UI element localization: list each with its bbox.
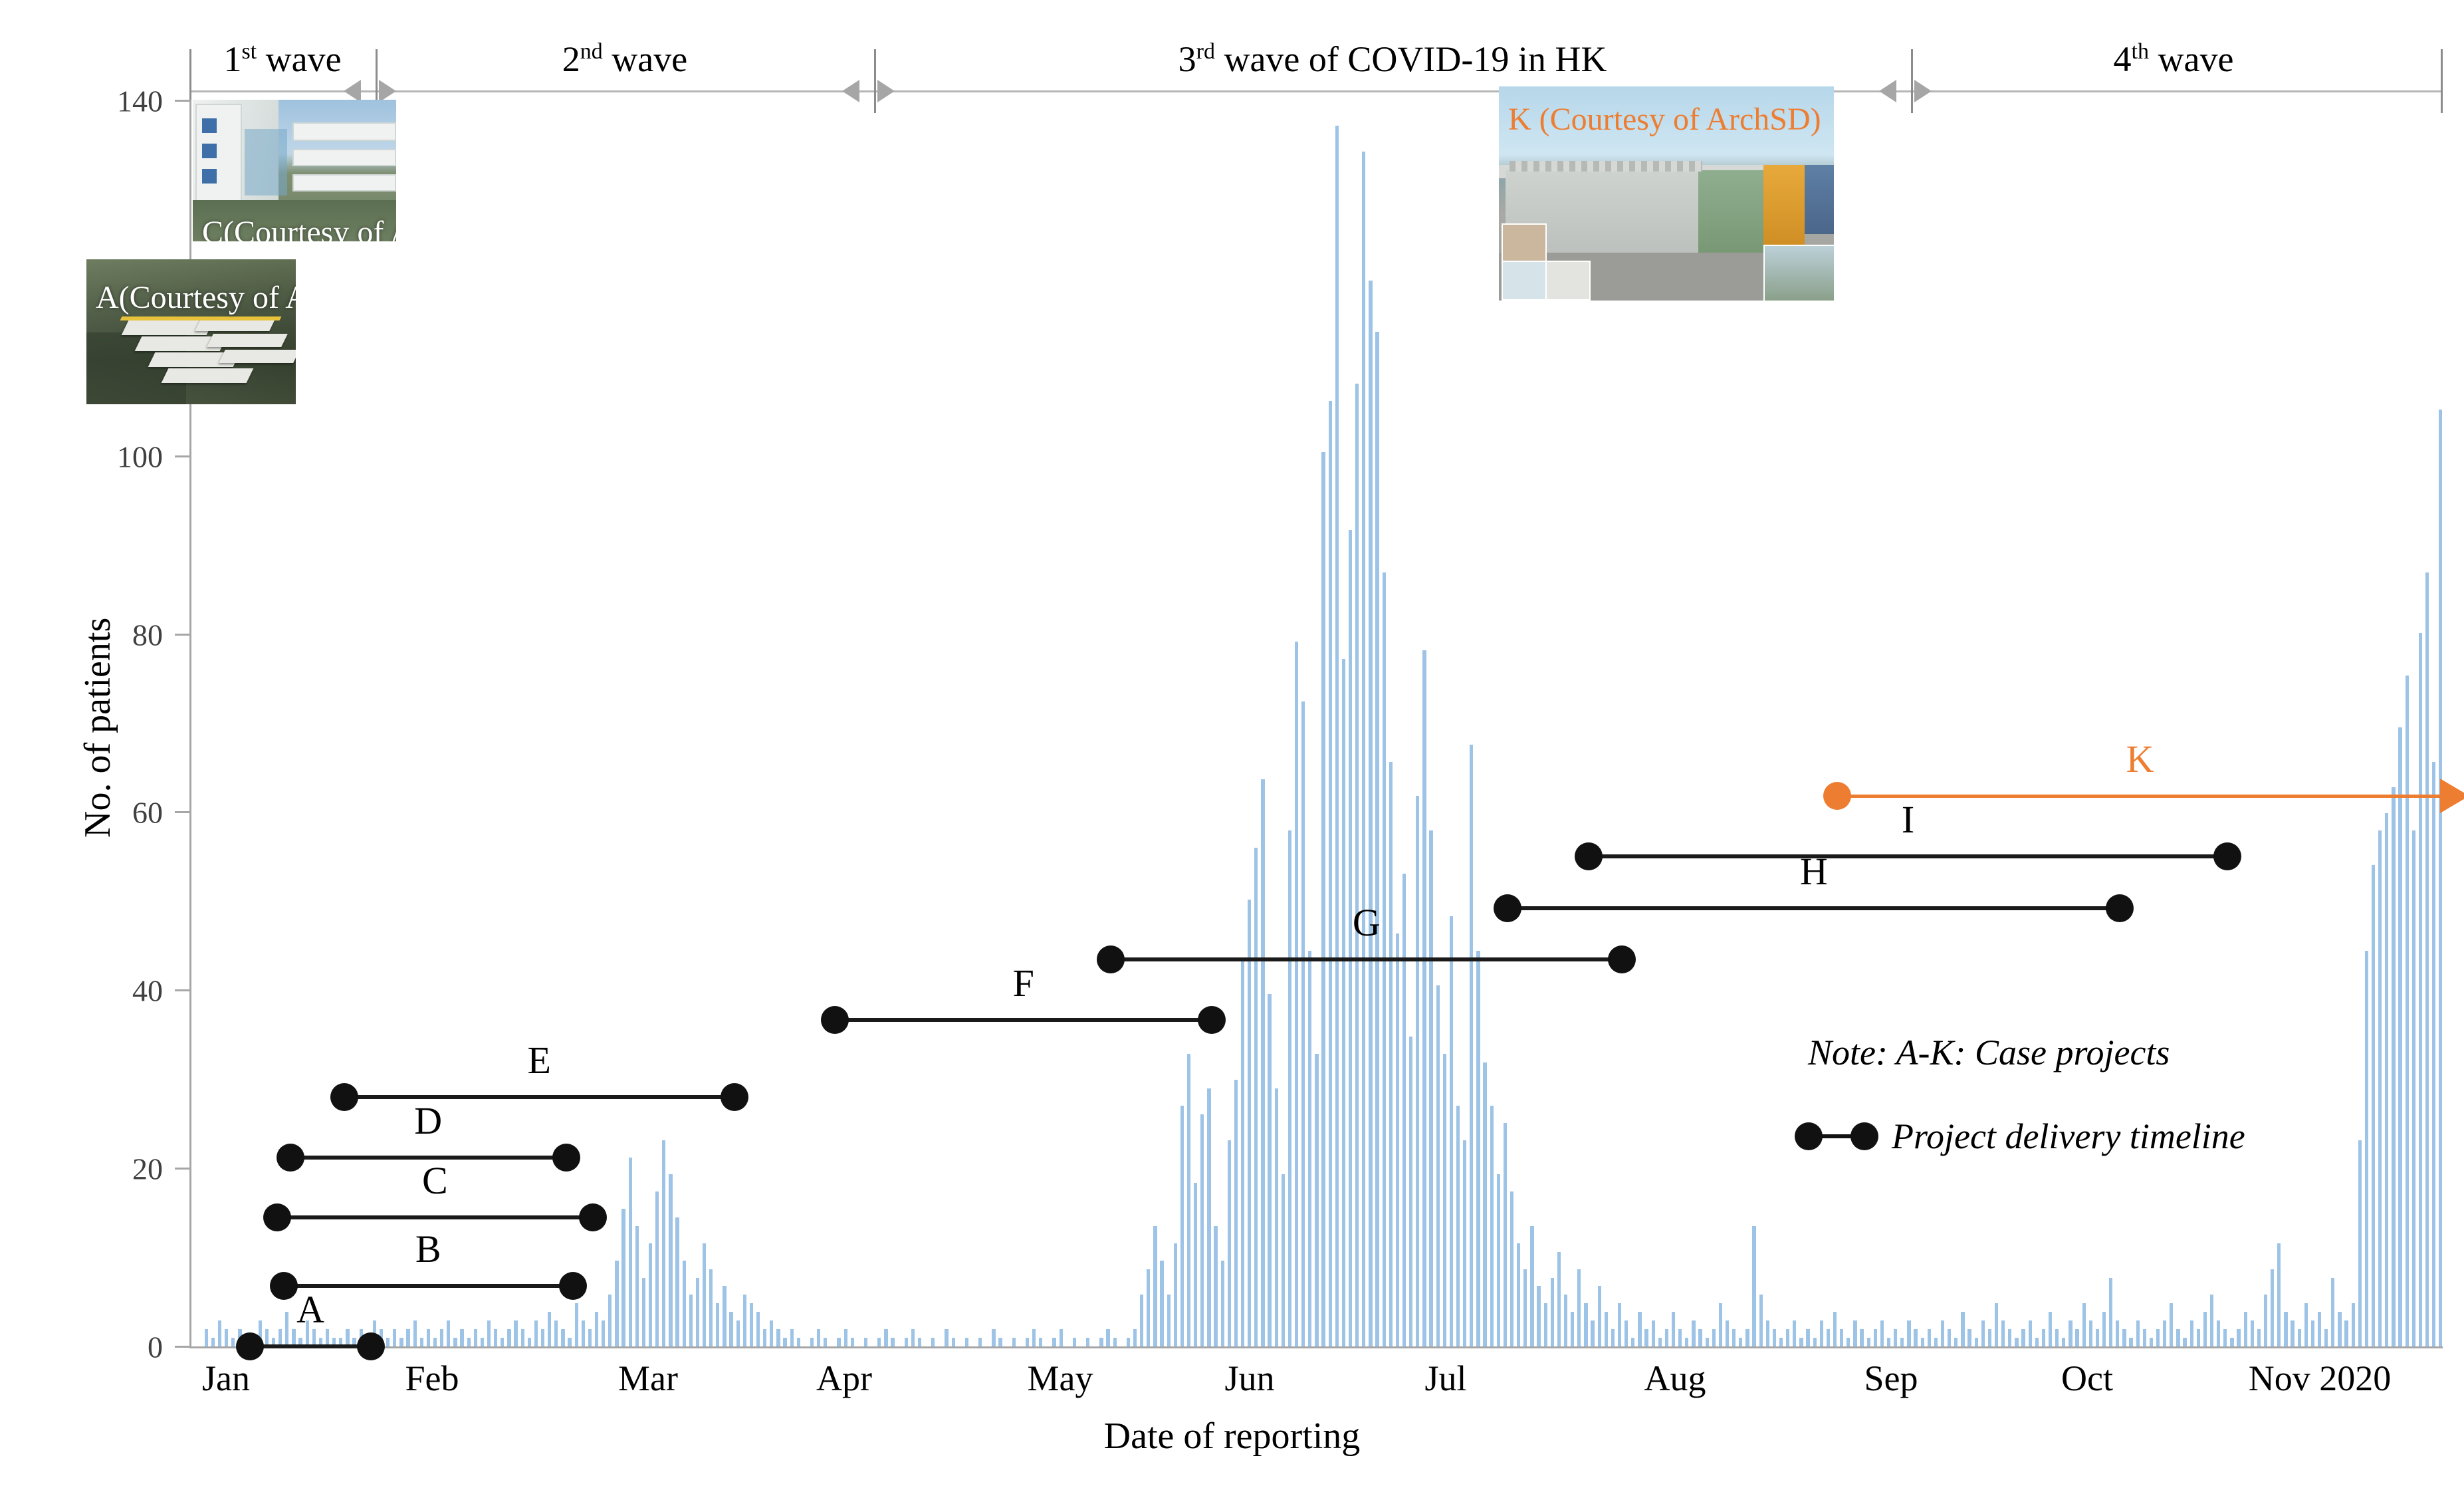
bar-slot	[2431, 100, 2437, 1346]
bar-slot	[2424, 100, 2431, 1346]
bar	[218, 1320, 221, 1346]
bar-slot	[1071, 100, 1077, 1346]
bar-slot	[674, 100, 681, 1346]
bar	[427, 1329, 430, 1346]
bar	[1658, 1338, 1662, 1346]
bar	[783, 1338, 786, 1346]
bar	[2271, 1269, 2274, 1346]
bar	[1200, 1114, 1204, 1346]
bar	[1099, 1338, 1103, 1346]
bar-slot	[883, 100, 889, 1346]
bar-slot	[385, 100, 392, 1346]
bar	[1335, 126, 1339, 1346]
bar	[1840, 1329, 1843, 1346]
bar	[413, 1320, 417, 1346]
timeline-line	[1508, 906, 2120, 910]
bar	[635, 1226, 639, 1346]
photo-K: K (Courtesy of ArchSD)	[1499, 86, 1834, 301]
bar-slot	[1408, 100, 1414, 1346]
bar-slot	[1085, 100, 1091, 1346]
bar-slot	[465, 100, 472, 1346]
bar	[1228, 1140, 1231, 1346]
timeline-label-D: D	[414, 1098, 442, 1143]
bar-slot	[1293, 100, 1300, 1346]
bar-slot	[2370, 100, 2377, 1346]
bar	[2358, 1140, 2362, 1346]
bar	[2338, 1312, 2341, 1346]
bar	[931, 1338, 935, 1346]
bar	[528, 1338, 531, 1346]
timeline-label-K: K	[2126, 737, 2154, 781]
bar	[2244, 1312, 2247, 1346]
bar-slot	[855, 100, 862, 1346]
bar	[669, 1174, 672, 1346]
bar	[1584, 1303, 1587, 1346]
bar	[1295, 642, 1298, 1346]
x-tick-label-jan: Jan	[202, 1358, 250, 1399]
bar	[1422, 650, 1426, 1346]
bar-slot	[331, 100, 338, 1346]
bar	[1988, 1329, 1991, 1346]
bar-slot	[917, 100, 923, 1346]
timeline-start-dot	[1575, 842, 1603, 870]
x-tick-label-nov: Nov 2020	[2249, 1358, 2392, 1399]
bar-slot	[849, 100, 855, 1346]
bar	[1638, 1312, 1641, 1346]
bar-slot	[1932, 100, 1939, 1346]
bar	[621, 1209, 625, 1346]
bar	[608, 1295, 612, 1346]
bar-slot	[2128, 100, 2134, 1346]
bar-slot	[1872, 100, 1878, 1346]
bar	[911, 1329, 915, 1346]
bar-slot	[715, 100, 721, 1346]
bar-slot	[943, 100, 950, 1346]
bar	[1706, 1338, 1709, 1346]
bar	[1698, 1329, 1702, 1346]
bar-slot	[2377, 100, 2384, 1346]
bar	[1523, 1269, 1527, 1346]
bar-slot	[1172, 100, 1178, 1346]
bar	[1268, 994, 1271, 1346]
bar-slot	[2000, 100, 2007, 1346]
bar	[1282, 1174, 1285, 1346]
bar-slot	[667, 100, 674, 1346]
bar-slot	[640, 100, 647, 1346]
bar-slot	[1953, 100, 1960, 1346]
bar-slot	[1986, 100, 1993, 1346]
bar	[905, 1338, 908, 1346]
bar	[1732, 1329, 1736, 1346]
bar	[1180, 1106, 1184, 1346]
bar	[1793, 1320, 1796, 1346]
bar	[1362, 152, 1365, 1346]
bar-slot	[1038, 100, 1044, 1346]
bar	[1692, 1320, 1695, 1346]
timeline-start-dot	[270, 1272, 298, 1300]
bar	[285, 1312, 288, 1346]
bar	[2352, 1303, 2355, 1346]
bar-slot	[2323, 100, 2330, 1346]
bar-slot	[1111, 100, 1118, 1346]
bar	[2143, 1329, 2146, 1346]
bar-slot	[1361, 100, 1367, 1346]
timeline-end-dot	[357, 1332, 385, 1360]
bar	[1032, 1329, 1036, 1346]
y-tick-40	[175, 989, 189, 991]
bar	[561, 1329, 564, 1346]
bar-slot	[2168, 100, 2175, 1346]
wave-arrow-right-2	[877, 80, 895, 102]
bar	[689, 1295, 693, 1346]
bar	[2419, 633, 2422, 1346]
bar-slot	[1973, 100, 1979, 1346]
legend-series: Project delivery timeline	[1795, 1116, 2245, 1157]
bar-slot	[2175, 100, 2182, 1346]
bar	[1147, 1269, 1150, 1346]
bar	[743, 1295, 746, 1346]
bar-slot	[479, 100, 485, 1346]
bar	[205, 1329, 208, 1346]
bar	[1510, 1191, 1513, 1346]
bar	[1928, 1329, 1931, 1346]
bar	[649, 1243, 652, 1346]
bar	[1012, 1338, 1016, 1346]
bar-slot	[2222, 100, 2229, 1346]
bar	[501, 1338, 504, 1346]
bar	[2176, 1329, 2180, 1346]
bar	[683, 1261, 686, 1346]
bar-slot	[2309, 100, 2316, 1346]
bar-slot	[1878, 100, 1885, 1346]
bar-slot	[1367, 100, 1374, 1346]
bar	[1975, 1338, 1978, 1346]
bar-slot	[532, 100, 539, 1346]
bar-slot	[1899, 100, 1906, 1346]
bar	[1301, 701, 1305, 1346]
bar	[1133, 1329, 1137, 1346]
x-tick-label-may: May	[1028, 1358, 1093, 1399]
bar-slot	[748, 100, 754, 1346]
bar	[582, 1320, 585, 1346]
bar-slot	[2343, 100, 2350, 1346]
bar-slot	[1300, 100, 1307, 1346]
chart-figure: 1st wave 2nd wave 3rd wave of COVID-19 i…	[0, 0, 2464, 1498]
bar-slot	[338, 100, 344, 1346]
bar	[2223, 1329, 2227, 1346]
bar	[507, 1329, 510, 1346]
bar	[1409, 1037, 1412, 1346]
bar-slot	[392, 100, 398, 1346]
bar-slot	[687, 100, 694, 1346]
bar-slot	[2269, 100, 2276, 1346]
bar	[1672, 1312, 1675, 1346]
bar	[2251, 1320, 2254, 1346]
bar-slot	[768, 100, 775, 1346]
bar-slot	[1892, 100, 1899, 1346]
bar-slot	[1381, 100, 1387, 1346]
timeline-end-dot	[2213, 842, 2241, 870]
bar	[1773, 1329, 1776, 1346]
bar	[1880, 1320, 1884, 1346]
bar	[1140, 1295, 1143, 1346]
wave-label-3: 3rd wave of COVID-19 in HK	[1178, 39, 1607, 80]
bar-slot	[950, 100, 956, 1346]
bar-slot	[1347, 100, 1354, 1346]
bar-slot	[2061, 100, 2067, 1346]
wave-2-ordinal: 2	[562, 39, 580, 79]
bar	[642, 1278, 645, 1346]
bar-slot	[647, 100, 654, 1346]
bar	[1221, 1261, 1224, 1346]
wave-label-2: 2nd wave	[562, 39, 687, 80]
bar-slot	[1206, 100, 1212, 1346]
bar-slot	[2235, 100, 2242, 1346]
bar	[703, 1243, 706, 1346]
bar-slot	[1125, 100, 1131, 1346]
bar-slot	[661, 100, 667, 1346]
bar	[514, 1320, 517, 1346]
bar	[2284, 1312, 2287, 1346]
bar-slot	[1178, 100, 1185, 1346]
bar	[1497, 1174, 1500, 1346]
x-tick-label-aug: Aug	[1644, 1358, 1706, 1399]
bar	[2102, 1312, 2106, 1346]
bar-slot	[2020, 100, 2027, 1346]
bar	[1611, 1329, 1615, 1346]
timeline-end-dot	[721, 1083, 748, 1111]
bar	[978, 1338, 982, 1346]
bar	[433, 1338, 437, 1346]
bar	[1571, 1312, 1574, 1346]
bar	[2015, 1338, 2018, 1346]
bar-slot	[1865, 100, 1872, 1346]
bar-slot	[889, 100, 896, 1346]
bar-slot	[1940, 100, 1946, 1346]
bar-slot	[728, 100, 734, 1346]
y-tick-140	[175, 100, 189, 102]
bar-slot	[519, 100, 526, 1346]
y-tick-label-0: 0	[100, 1330, 163, 1365]
y-tick-60	[175, 811, 189, 813]
bar	[2365, 951, 2368, 1346]
wave-3-tail: wave of COVID-19 in HK	[1215, 39, 1607, 79]
bar	[386, 1338, 390, 1346]
bar-slot	[304, 100, 310, 1346]
bar-slot	[2141, 100, 2148, 1346]
bar-slot	[411, 100, 418, 1346]
bar	[2230, 1338, 2233, 1346]
bar	[945, 1329, 948, 1346]
bar	[750, 1303, 753, 1346]
bar	[965, 1338, 968, 1346]
bar-slot	[1078, 100, 1085, 1346]
bar	[1827, 1329, 1830, 1346]
bar	[1867, 1338, 1870, 1346]
bar	[1214, 1226, 1217, 1346]
bar	[918, 1338, 921, 1346]
legend-timeline-swatch	[1795, 1122, 1878, 1150]
timeline-label-B: B	[415, 1227, 441, 1271]
bar-slot	[1051, 100, 1058, 1346]
bar-slot	[2289, 100, 2296, 1346]
bar	[1443, 1054, 1446, 1346]
plot-area	[189, 100, 2443, 1346]
bar	[1436, 985, 1440, 1346]
bar-slot	[681, 100, 687, 1346]
wave-arrow-left-1	[344, 80, 361, 102]
bar-slot	[2114, 100, 2121, 1346]
bar-slot	[896, 100, 903, 1346]
bar	[729, 1312, 732, 1346]
x-tick-label-oct: Oct	[2061, 1358, 2113, 1399]
bar-slot	[344, 100, 351, 1346]
bar	[1786, 1329, 1789, 1346]
bar-slot	[324, 100, 331, 1346]
bar	[2049, 1312, 2052, 1346]
bar-slot	[358, 100, 364, 1346]
wave-3-suffix: rd	[1196, 39, 1215, 64]
timeline-line	[1589, 854, 2227, 858]
bar-slot	[1253, 100, 1260, 1346]
bar-slot	[1428, 100, 1434, 1346]
bar	[1591, 1320, 1594, 1346]
bar-slot	[708, 100, 715, 1346]
bar-slot	[1401, 100, 1408, 1346]
bar	[1194, 1183, 1197, 1346]
bar-slot	[1226, 100, 1232, 1346]
bar-slot	[1260, 100, 1266, 1346]
y-tick-label-100: 100	[86, 439, 163, 475]
bar	[1624, 1320, 1628, 1346]
bar	[474, 1329, 477, 1346]
bar-slot	[2302, 100, 2309, 1346]
bar-slot	[2201, 100, 2208, 1346]
bar	[1860, 1329, 1863, 1346]
bar-slot	[2148, 100, 2154, 1346]
bar-slot	[816, 100, 822, 1346]
wave-arrow-right-3	[1914, 80, 1932, 102]
bar	[1921, 1338, 1924, 1346]
bar	[225, 1329, 228, 1346]
bar-slot	[1307, 100, 1313, 1346]
bar-slot	[1105, 100, 1111, 1346]
bar-slot	[1091, 100, 1098, 1346]
bar-slot	[600, 100, 607, 1346]
bar-slot	[1159, 100, 1165, 1346]
bar-slot	[2067, 100, 2074, 1346]
bar	[2156, 1329, 2160, 1346]
bar	[521, 1329, 524, 1346]
bar-slot	[2040, 100, 2047, 1346]
bar	[2406, 676, 2409, 1346]
bar	[2291, 1320, 2294, 1346]
bar	[1712, 1329, 1716, 1346]
wave-band: 1st wave 2nd wave 3rd wave of COVID-19 i…	[189, 27, 2443, 100]
bar	[1167, 1295, 1171, 1346]
bar-slot	[371, 100, 378, 1346]
bar	[2069, 1320, 2072, 1346]
bar	[1631, 1338, 1634, 1346]
bar-slot	[1926, 100, 1932, 1346]
bar	[595, 1312, 598, 1346]
bar	[1369, 281, 1372, 1346]
bar	[716, 1303, 719, 1346]
bar-slot	[594, 100, 600, 1346]
bar	[1887, 1338, 1890, 1346]
bar	[2331, 1278, 2334, 1346]
bar-slot	[2215, 100, 2222, 1346]
bar	[696, 1278, 699, 1346]
bar	[1483, 1062, 1486, 1346]
bar-slot	[809, 100, 816, 1346]
bar	[2089, 1320, 2092, 1346]
bar-slot	[2101, 100, 2108, 1346]
bar	[776, 1329, 780, 1346]
bar	[992, 1329, 995, 1346]
bar	[1537, 1286, 1540, 1346]
bar-slot	[1462, 100, 1468, 1346]
wave-arrow-left-3	[1879, 80, 1896, 102]
bar	[1678, 1329, 1682, 1346]
bar	[1544, 1303, 1547, 1346]
bar	[790, 1329, 794, 1346]
wave-label-4: 4th wave	[2114, 39, 2234, 80]
y-tick-label-40: 40	[100, 973, 163, 1009]
bar-slot	[2336, 100, 2343, 1346]
bar-slot	[1475, 100, 1482, 1346]
bar	[810, 1338, 814, 1346]
bar	[2311, 1320, 2314, 1346]
bar-slot	[1858, 100, 1865, 1346]
bar	[1153, 1226, 1157, 1346]
bar	[1745, 1329, 1749, 1346]
bar	[447, 1320, 450, 1346]
bar-slot	[607, 100, 614, 1346]
wave-4-ordinal: 4	[2114, 39, 2132, 79]
bar	[1476, 951, 1480, 1346]
bar-slot	[1448, 100, 1454, 1346]
bar	[884, 1329, 887, 1346]
bar-slot	[2047, 100, 2054, 1346]
bar	[541, 1329, 544, 1346]
bar-slot	[694, 100, 701, 1346]
bar	[723, 1286, 726, 1346]
bar-slot	[1886, 100, 1892, 1346]
bar-slot	[2108, 100, 2114, 1346]
y-tick-label-140: 140	[86, 84, 163, 119]
bar	[864, 1338, 867, 1346]
bar-slot	[2316, 100, 2323, 1346]
bar	[763, 1329, 766, 1346]
timeline-label-I: I	[1902, 797, 1914, 842]
bar	[393, 1329, 396, 1346]
timeline-start-dot	[330, 1083, 358, 1111]
bar	[1806, 1329, 1809, 1346]
bar	[1605, 1312, 1608, 1346]
wave-3-ordinal: 3	[1178, 39, 1196, 79]
bar-slot	[2296, 100, 2302, 1346]
wave-4-tail: wave	[2149, 39, 2233, 79]
bar	[851, 1338, 854, 1346]
bar-slot	[701, 100, 708, 1346]
bar-slot	[1327, 100, 1333, 1346]
bar-slot	[1852, 100, 1858, 1346]
bar-slot	[452, 100, 459, 1346]
wave-2-suffix: nd	[580, 39, 603, 64]
bar-slot	[493, 100, 499, 1346]
bar	[1321, 452, 1325, 1346]
